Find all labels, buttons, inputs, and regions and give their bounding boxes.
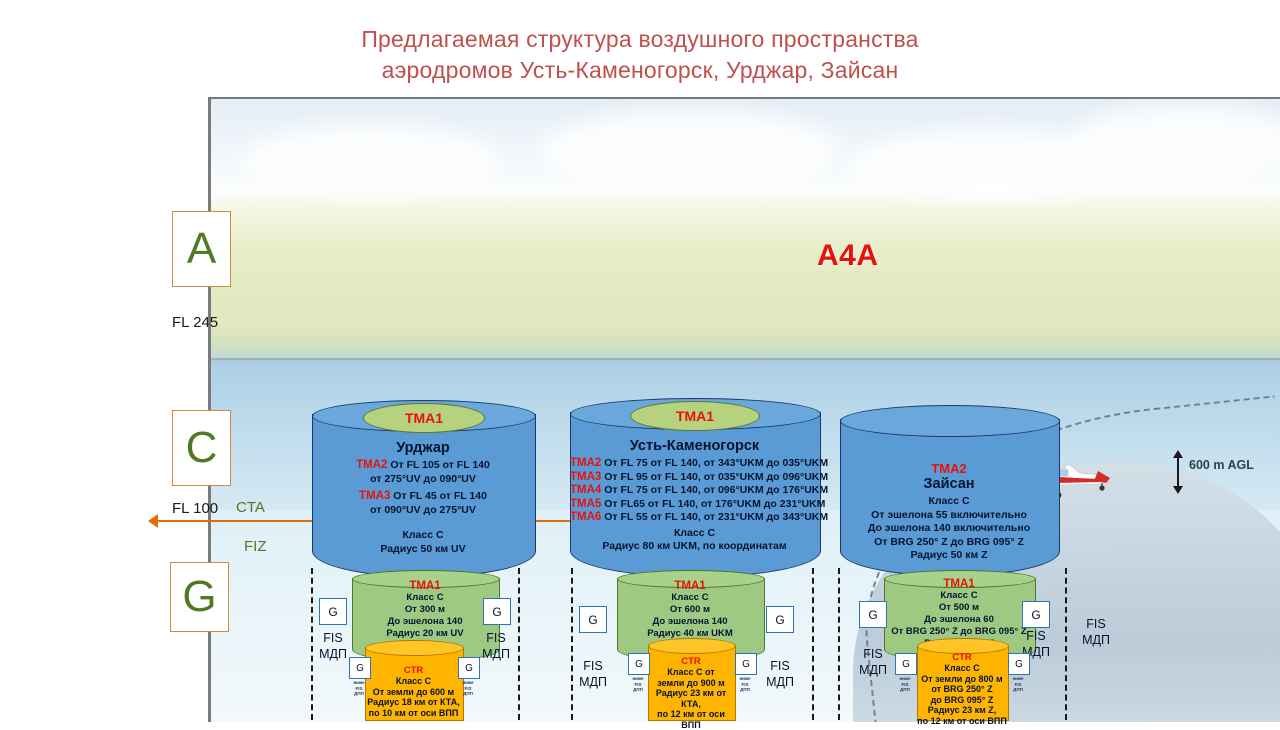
g-tag-small-right-zaisan: G <box>1008 653 1030 675</box>
tma1-cap-label-urdzhar: TMA1 <box>363 403 485 433</box>
fis-label: FIS <box>853 646 893 662</box>
micro-label-right-urdzhar: нижеFISДПП <box>458 680 478 697</box>
micro-label-left-urdzhar: нижеFISДПП <box>349 680 369 697</box>
ctr-line: Класс С <box>917 663 1007 674</box>
ctr-cylinder-zaisan: CTR Класс С От земли до 800 м от BRG 250… <box>917 638 1007 720</box>
tma-cylinder-ukm: TMA1 Усть-Каменогорск TMA2 От FL 75 от F… <box>570 398 819 576</box>
tma1-line: Класс С <box>884 590 1034 602</box>
micro-label-right-zaisan: нижеFISДПП <box>1008 676 1028 693</box>
tma1-line: Класс С <box>617 592 763 604</box>
micro-label-left-zaisan: нижеFISДПП <box>895 676 915 693</box>
tma-name-ukm: Усть-Каменогорск <box>570 438 819 454</box>
page-title: Предлагаемая структура воздушного простр… <box>0 24 1280 86</box>
fis-label: FIS <box>573 658 613 674</box>
fiz-divider <box>518 568 520 720</box>
class-box-a: A <box>172 211 231 287</box>
ctr-tag: CTR <box>648 656 734 667</box>
fl-245-label: FL 245 <box>172 314 218 331</box>
g-tag-left-zaisan: G <box>859 601 887 628</box>
mdp-label: МДП <box>760 674 800 690</box>
tma1-line: От 300 м <box>352 604 498 616</box>
tma-footer: Радиус 50 км Z <box>840 549 1058 563</box>
micro-label-right-ukm: нижеFISДПП <box>735 676 755 693</box>
tma-cylinder-zaisan: TMA2 Зайсан Класс С От эшелона 55 включи… <box>840 405 1058 575</box>
tma1-line: До эшелона 140 <box>617 616 763 628</box>
g-tag-small-left-urdzhar: G <box>349 657 371 679</box>
class-box-c: C <box>172 410 231 486</box>
cta-label: CTA <box>236 499 265 516</box>
tma-footer: Класс С <box>570 527 819 541</box>
cloud-shape <box>241 124 501 194</box>
ctr-line: Радиус 23 км Z, <box>917 705 1007 716</box>
tma-row: TMA2 От FL 75 от FL 140, от 343°UKM до 0… <box>570 457 819 471</box>
micro-label-left-ukm: нижеFISДПП <box>628 676 648 693</box>
tma1-line: От BRG 250° Z до BRG 095° Z <box>884 626 1034 638</box>
ctr-line: до BRG 095° Z <box>917 695 1007 706</box>
a4a-label: A4A <box>817 239 879 273</box>
tma-footer: Радиус 50 км UV <box>312 543 534 557</box>
fis-label: FIS <box>1074 616 1118 632</box>
title-line-2: аэродромов Усть-Каменогорск, Урджар, Зай… <box>0 55 1280 86</box>
tma-row: TMA3 От FL 95 от FL 140, от 035°UKM до 0… <box>570 471 819 485</box>
tma-row: TMA6 От FL 55 от FL 140, от 231°UKM до 3… <box>570 511 819 525</box>
tma1-line: Класс С <box>352 592 498 604</box>
class-box-g: G <box>170 562 229 632</box>
fis-label: FIS <box>476 630 516 646</box>
tma-footer: До эшелона 140 включительно <box>840 522 1058 536</box>
tma-footer: Класс С <box>840 495 1058 509</box>
g-tag-small-left-zaisan: G <box>895 653 917 675</box>
fis-block-far-right: FIS МДП <box>1074 616 1118 648</box>
g-tag-small-right-urdzhar: G <box>458 657 480 679</box>
tma1-tag: TMA1 <box>352 580 498 592</box>
fis-label: FIS <box>760 658 800 674</box>
ctr-line: Класс С <box>365 676 462 687</box>
tma-footer: От эшелона 55 включительно <box>840 509 1058 523</box>
g-tag-left-urdzhar: G <box>319 598 347 625</box>
horizon-line <box>211 358 1280 360</box>
mdp-label: МДП <box>573 674 613 690</box>
tma-footer: Класс С <box>312 529 534 543</box>
tma1-line: От 600 м <box>617 604 763 616</box>
fis-block-left-ukm: FIS МДП <box>573 658 613 690</box>
ctr-cylinder-ukm: CTR Класс С от земли до 900 м Радиус 23 … <box>648 638 734 720</box>
mdp-label: МДП <box>1074 632 1118 648</box>
tma1-line: До эшелона 140 <box>352 616 498 628</box>
g-tag-left-ukm: G <box>579 606 607 633</box>
tma1-tag: TMA1 <box>884 578 1034 590</box>
mdp-label: МДП <box>476 646 516 662</box>
ctr-line: от BRG 250° Z <box>917 684 1007 695</box>
tma-footer: Радиус 80 км UKM, по координатам <box>570 540 819 554</box>
title-line-1: Предлагаемая структура воздушного простр… <box>0 24 1280 55</box>
mdp-label: МДП <box>313 646 353 662</box>
ctr-tag: CTR <box>917 652 1007 663</box>
fiz-divider <box>812 568 814 720</box>
fiz-divider <box>571 568 573 720</box>
tma-row: TMA4 От FL 75 от FL 140, от 096°UKM до 1… <box>570 484 819 498</box>
g-tag-right-ukm: G <box>766 606 794 633</box>
ctr-line: Радиус 18 км от КТА, <box>365 697 462 708</box>
tma2-tag-zaisan: TMA2 <box>840 461 1058 476</box>
g-tag-right-zaisan: G <box>1022 601 1050 628</box>
cta-boundary-arrow-head <box>148 514 158 528</box>
agl-label: 600 m AGL <box>1189 458 1254 472</box>
tma1-line: До эшелона 60 <box>884 614 1034 626</box>
cloud-shape <box>541 109 841 189</box>
tma1-tag: TMA1 <box>617 580 763 592</box>
fis-block-right-ukm: FIS МДП <box>760 658 800 690</box>
ctr-line: по 10 км от оси ВПП <box>365 708 462 719</box>
fis-block-left-urdzhar: FIS МДП <box>313 630 353 662</box>
tma-name-zaisan: Зайсан <box>840 476 1058 492</box>
fis-block-left-zaisan: FIS МДП <box>853 646 893 678</box>
ctr-cylinder-urdzhar: CTR Класс С От земли до 600 м Радиус 18 … <box>365 640 462 720</box>
g-tag-right-urdzhar: G <box>483 598 511 625</box>
tma1-cap-label-ukm: TMA1 <box>630 401 760 431</box>
g-tag-small-right-ukm: G <box>735 653 757 675</box>
mdp-label: МДП <box>853 662 893 678</box>
tma1-line: От 500 м <box>884 602 1034 614</box>
tma-row: TMA3 От FL 45 от FL 140 <box>312 490 534 504</box>
ctr-tag: CTR <box>365 665 462 676</box>
tma-footer: От BRG 250° Z до BRG 095° Z <box>840 536 1058 550</box>
fis-block-right-urdzhar: FIS МДП <box>476 630 516 662</box>
fl-100-label: FL 100 <box>172 500 218 517</box>
tma-row: от 090°UV до 275°UV <box>312 504 534 518</box>
ctr-line: От земли до 600 м <box>365 687 462 698</box>
fiz-divider <box>838 568 840 720</box>
fiz-label: FIZ <box>244 538 267 555</box>
tma-row: от 275°UV до 090°UV <box>312 473 534 487</box>
ctr-line: От земли до 800 м <box>917 674 1007 685</box>
tma-name-urdzhar: Урджар <box>312 440 534 456</box>
tma-row: TMA2 От FL 105 от FL 140 <box>312 459 534 473</box>
tma-row: TMA5 От FL65 от FL 140, от 176°UKM до 23… <box>570 498 819 512</box>
fiz-divider <box>1065 568 1067 720</box>
ctr-line: Класс С от <box>648 667 734 678</box>
ctr-line: по 12 км от оси ВПП <box>917 716 1007 727</box>
tma-cylinder-urdzhar: TMA1 Урджар TMA2 От FL 105 от FL 140 от … <box>312 400 534 576</box>
g-tag-small-left-ukm: G <box>628 653 650 675</box>
fis-label: FIS <box>1016 628 1056 644</box>
ctr-line: земли до 900 м <box>648 678 734 689</box>
fis-label: FIS <box>313 630 353 646</box>
ctr-line: Радиус 23 км от КТА, <box>648 688 734 709</box>
agl-arrow-icon <box>1172 450 1184 494</box>
